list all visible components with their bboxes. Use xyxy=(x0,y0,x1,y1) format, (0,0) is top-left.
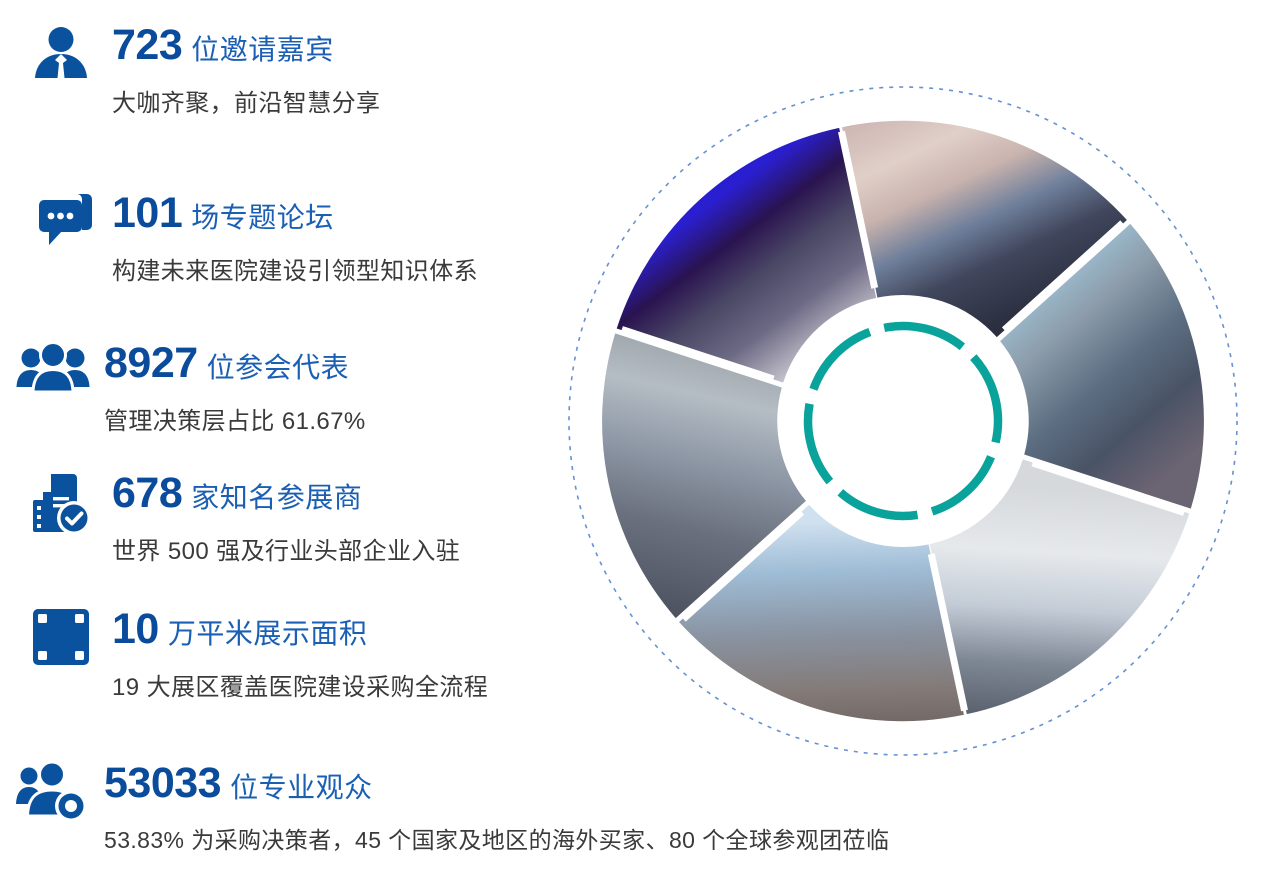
stat-text: 53033 位专业观众 53.83% 为采购决策者，45 个国家及地区的海外买家… xyxy=(96,762,889,855)
stat-description: 19 大展区覆盖医院建设采购全流程 xyxy=(112,667,488,702)
speech-bubbles-icon xyxy=(18,192,104,250)
statistics-list: 723 位邀请嘉宾 大咖齐聚，前沿智慧分享 101 场专题论坛 构建未来医院建设… xyxy=(0,0,660,889)
stat-text: 101 场专题论坛 构建未来医院建设引领型知识体系 xyxy=(104,192,478,286)
stat-headline: 10 万平米展示面积 xyxy=(112,608,488,651)
stat-value: 723 xyxy=(112,24,182,67)
stat-value: 101 xyxy=(112,192,182,235)
stat-description: 53.83% 为采购决策者，45 个国家及地区的海外买家、80 个全球参观团莅临 xyxy=(104,821,889,855)
stat-value: 678 xyxy=(112,472,182,515)
stat-text: 8927 位参会代表 管理决策层占比 61.67% xyxy=(96,342,366,436)
stat-row: 53033 位专业观众 53.83% 为采购决策者，45 个国家及地区的海外买家… xyxy=(10,762,889,855)
stat-description: 管理决策层占比 61.67% xyxy=(104,401,366,436)
stat-description: 大咖齐聚，前沿智慧分享 xyxy=(112,83,380,118)
stat-description: 世界 500 强及行业头部企业入驻 xyxy=(112,531,460,566)
stat-row: 723 位邀请嘉宾 大咖齐聚，前沿智慧分享 xyxy=(18,24,380,118)
stat-headline: 8927 位参会代表 xyxy=(104,342,366,385)
stat-headline: 678 家知名参展商 xyxy=(112,472,460,515)
people-group-icon xyxy=(10,342,96,398)
stat-description: 构建未来医院建设引领型知识体系 xyxy=(112,251,478,286)
stat-unit: 位参会代表 xyxy=(207,354,350,382)
stat-row: 678 家知名参展商 世界 500 强及行业头部企业入驻 xyxy=(18,472,460,566)
stat-text: 10 万平米展示面积 19 大展区覆盖医院建设采购全流程 xyxy=(104,608,488,702)
stat-headline: 723 位邀请嘉宾 xyxy=(112,24,380,67)
stat-unit: 万平米展示面积 xyxy=(168,620,368,648)
stat-row: 8927 位参会代表 管理决策层占比 61.67% xyxy=(10,342,366,436)
stat-unit: 位专业观众 xyxy=(230,774,373,802)
stat-row: 10 万平米展示面积 19 大展区覆盖医院建设采购全流程 xyxy=(18,608,488,702)
stat-unit: 位邀请嘉宾 xyxy=(191,36,334,64)
stat-unit: 家知名参展商 xyxy=(191,484,362,512)
floor-area-icon xyxy=(18,608,104,666)
stat-unit: 场专题论坛 xyxy=(191,204,334,232)
stat-text: 723 位邀请嘉宾 大咖齐聚，前沿智慧分享 xyxy=(104,24,380,118)
visitor-search-icon xyxy=(10,762,96,824)
stat-value: 8927 xyxy=(104,342,198,385)
factory-check-icon xyxy=(18,472,104,536)
stat-value: 10 xyxy=(112,608,159,651)
stat-headline: 53033 位专业观众 xyxy=(104,762,889,805)
stat-text: 678 家知名参展商 世界 500 强及行业头部企业入驻 xyxy=(104,472,460,566)
circular-photo-collage xyxy=(567,85,1239,757)
teal-center-ring xyxy=(567,85,1239,757)
stat-headline: 101 场专题论坛 xyxy=(112,192,478,235)
person-suit-icon xyxy=(18,24,104,88)
stat-value: 53033 xyxy=(104,762,221,805)
stat-row: 101 场专题论坛 构建未来医院建设引领型知识体系 xyxy=(18,192,478,286)
